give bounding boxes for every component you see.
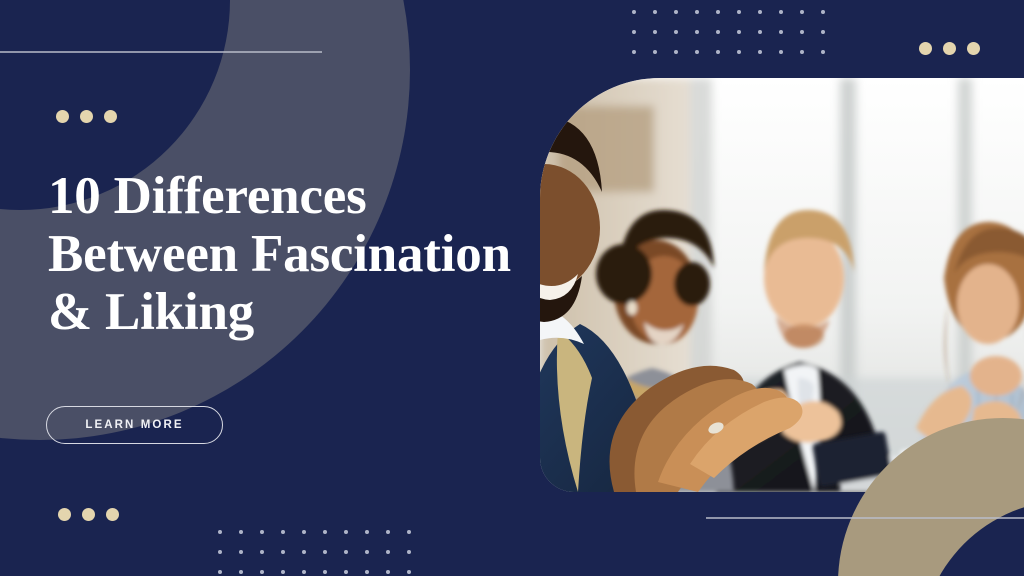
grid-dot-icon [218,550,222,554]
gold-dot-triplet-top-right [919,42,980,55]
grid-dot-icon [653,10,657,14]
grid-dot-icon [716,30,720,34]
grid-dot-icon [695,30,699,34]
gold-dot-icon [104,110,117,123]
grid-dot-icon [281,570,285,574]
gold-dot-icon [919,42,932,55]
bottom-accent-line [706,517,1024,519]
grid-dot-icon [218,530,222,534]
grid-dot-icon [344,570,348,574]
grid-dot-icon [302,550,306,554]
gold-dot-triplet-bottom-left [58,508,119,521]
grid-dot-icon [716,10,720,14]
gold-dot-icon [56,110,69,123]
grid-dot-icon [821,30,825,34]
grid-dot-icon [758,50,762,54]
grid-dot-icon [758,10,762,14]
grid-dot-icon [821,10,825,14]
grid-dot-icon [821,50,825,54]
grid-dot-icon [737,30,741,34]
grid-dot-icon [260,530,264,534]
grid-dot-icon [365,530,369,534]
grid-dot-icon [323,530,327,534]
grid-dot-icon [281,550,285,554]
grid-dot-icon [737,10,741,14]
gold-dot-icon [943,42,956,55]
grid-dot-icon [758,30,762,34]
grid-dot-icon [281,530,285,534]
grid-dot-icon [674,50,678,54]
dot-grid-top-right [632,10,825,54]
grid-dot-icon [632,50,636,54]
gold-dot-icon [80,110,93,123]
promo-banner: 10 Differences Between Fascination & Lik… [0,0,1024,576]
grid-dot-icon [323,570,327,574]
grid-dot-icon [302,570,306,574]
grid-dot-icon [779,30,783,34]
grid-dot-icon [260,570,264,574]
grid-dot-icon [653,50,657,54]
grid-dot-icon [239,570,243,574]
grid-dot-icon [800,50,804,54]
grid-dot-icon [344,550,348,554]
gold-dot-icon [967,42,980,55]
grid-dot-icon [386,530,390,534]
grid-dot-icon [779,10,783,14]
gold-dot-icon [58,508,71,521]
grid-dot-icon [632,30,636,34]
grid-dot-icon [239,530,243,534]
grid-dot-icon [737,50,741,54]
grid-dot-icon [218,570,222,574]
learn-more-button[interactable]: LEARN MORE [46,406,223,444]
page-title: 10 Differences Between Fascination & Lik… [48,168,608,341]
gold-dot-icon [82,508,95,521]
gold-dot-triplet-top-left [56,110,117,123]
grid-dot-icon [407,530,411,534]
grid-dot-icon [365,550,369,554]
gold-dot-icon [106,508,119,521]
dot-grid-bottom-left [218,530,411,574]
grid-dot-icon [386,550,390,554]
grid-dot-icon [365,570,369,574]
grid-dot-icon [695,10,699,14]
grid-dot-icon [302,530,306,534]
grid-dot-icon [695,50,699,54]
grid-dot-icon [800,10,804,14]
grid-dot-icon [716,50,720,54]
grid-dot-icon [779,50,783,54]
text-block: 10 Differences Between Fascination & Lik… [48,168,608,341]
grid-dot-icon [674,10,678,14]
grid-dot-icon [407,550,411,554]
grid-dot-icon [632,10,636,14]
grid-dot-icon [386,570,390,574]
grid-dot-icon [407,570,411,574]
grid-dot-icon [323,550,327,554]
grid-dot-icon [800,30,804,34]
grid-dot-icon [674,30,678,34]
top-accent-line [0,51,322,53]
grid-dot-icon [344,530,348,534]
grid-dot-icon [653,30,657,34]
grid-dot-icon [260,550,264,554]
grid-dot-icon [239,550,243,554]
